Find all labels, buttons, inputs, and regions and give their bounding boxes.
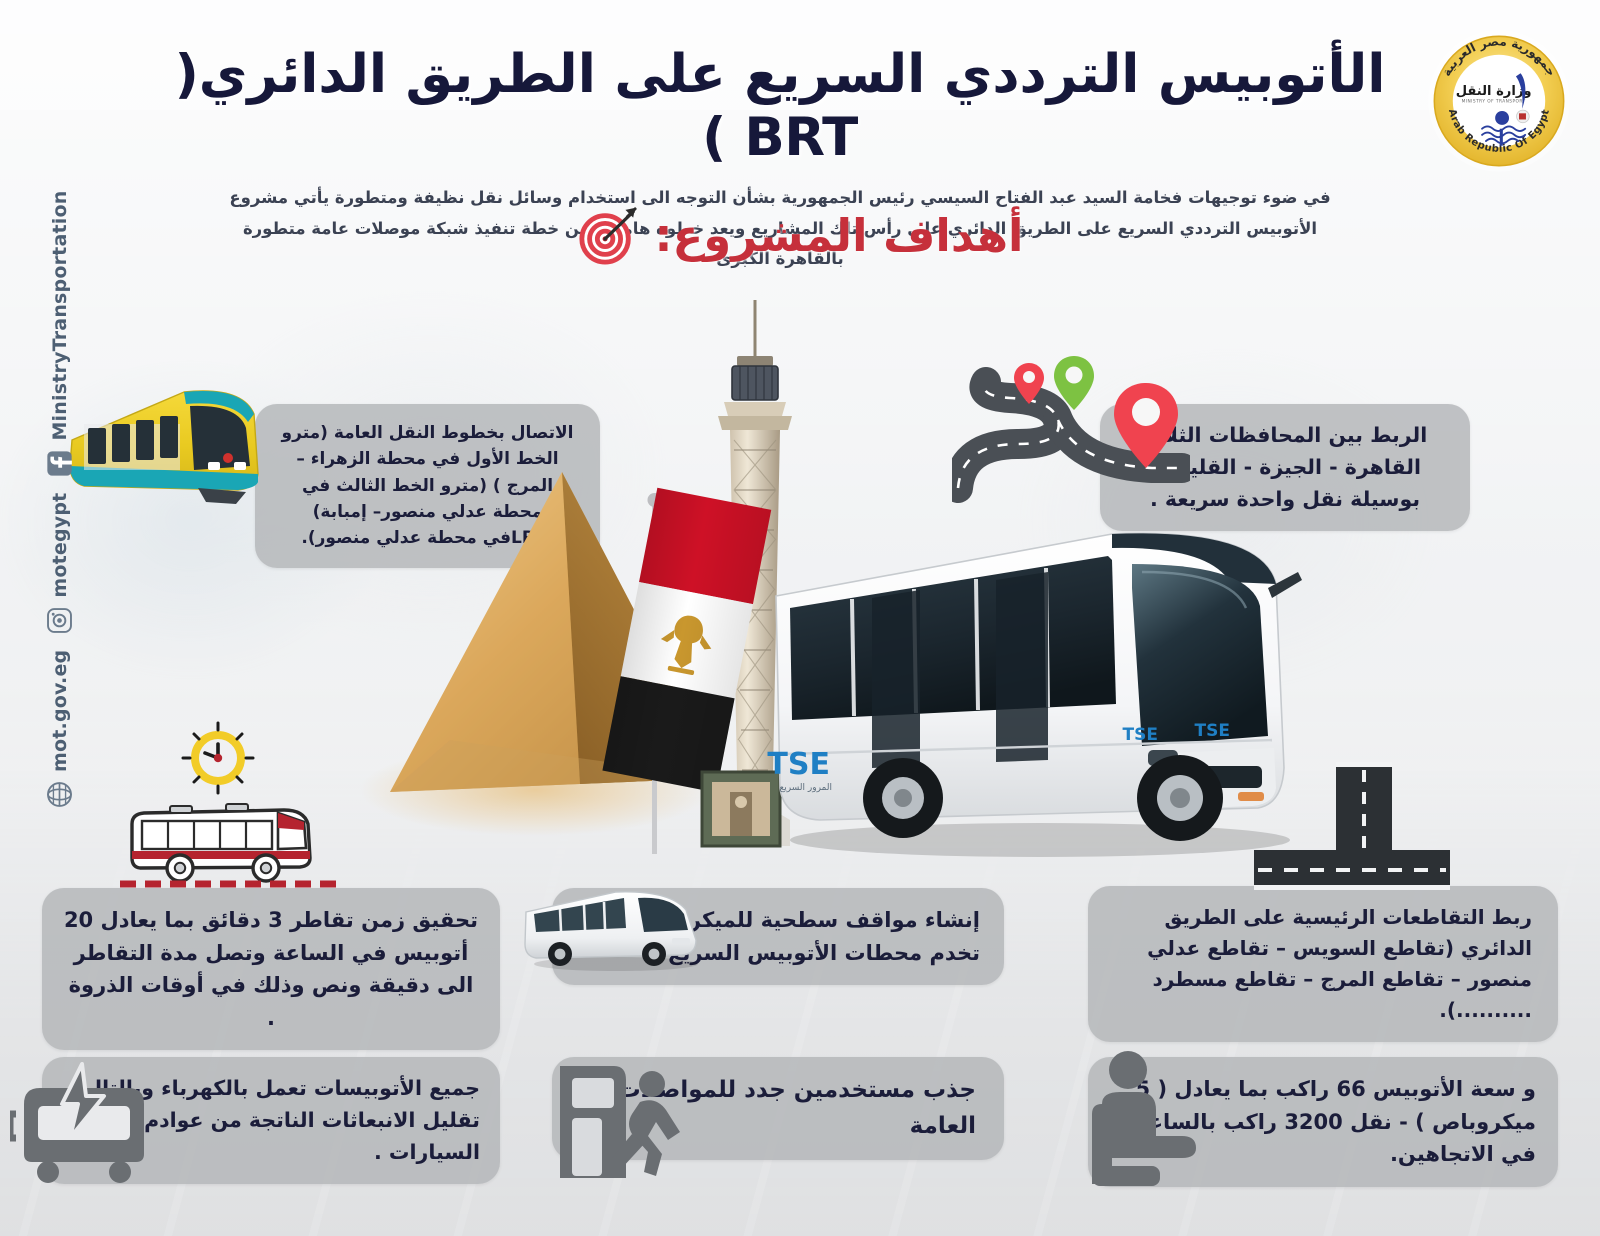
infographic-poster: mot.gov.eg motegypt MinistryTransportati…	[0, 0, 1600, 1236]
ministry-of-transport-seal: جمهورية مصر العربية Arab Republic Of Egy…	[1422, 24, 1576, 178]
social-media-rail: mot.gov.eg motegypt MinistryTransportati…	[0, 300, 58, 820]
social-link-instagram[interactable]: motegypt	[46, 493, 73, 634]
bus-brand-front-left-text: TSE	[1123, 725, 1158, 745]
social-link-facebook[interactable]: MinistryTransportation	[46, 191, 73, 477]
metro-train-icon	[58, 362, 276, 512]
goal-card-ring-road-junctions-text: ربط التقاطعات الرئيسية على الطريق الدائر…	[1147, 905, 1532, 1022]
social-label-facebook: MinistryTransportation	[49, 191, 71, 441]
target-dart-icon	[577, 204, 639, 266]
page-title: الأتوبيس الترددي السريع على الطريق الدائ…	[170, 44, 1390, 169]
goal-card-ring-road-junctions: ربط التقاطعات الرئيسية على الطريق الدائر…	[1088, 886, 1558, 1042]
bus-brand-front-right-text: TSE	[1195, 721, 1230, 741]
clock-bus-icon	[108, 718, 348, 898]
instagram-icon	[46, 607, 73, 634]
svg-text:المرور السريع: المرور السريع	[780, 783, 833, 793]
goals-heading-text: أهداف المشروع:	[655, 209, 1024, 262]
social-label-website: mot.gov.eg	[49, 650, 71, 772]
winding-road-pins-icon	[952, 352, 1190, 504]
seated-passenger-icon	[1078, 1048, 1206, 1188]
electric-bus-icon	[10, 1062, 160, 1186]
goals-heading-row: أهداف المشروع:	[0, 204, 1600, 266]
globe-icon	[46, 781, 73, 808]
coach-bus-line-icon	[132, 804, 310, 881]
svg-text:MINISTRY OF TRANSPORT: MINISTRY OF TRANSPORT	[1462, 99, 1526, 105]
svg-text:وزارة النقل: وزارة النقل	[1456, 84, 1532, 99]
social-label-instagram: motegypt	[49, 493, 71, 598]
goal-card-headway-text: تحقيق زمن تقاطر 3 دقائق بما يعادل 20 أتو…	[64, 908, 478, 1030]
social-link-website[interactable]: mot.gov.eg	[46, 650, 73, 808]
brt-bus-image: TSE المرور السريع TSE TSE	[760, 468, 1305, 863]
bus-brand-side-text: TSE	[767, 747, 830, 782]
facebook-icon	[46, 450, 73, 477]
passenger-boarding-icon	[552, 1058, 692, 1186]
t-junction-road-icon	[1238, 752, 1464, 892]
clock-icon	[183, 723, 253, 793]
microbus-icon	[520, 876, 710, 972]
goal-card-headway: تحقيق زمن تقاطر 3 دقائق بما يعادل 20 أتو…	[42, 888, 500, 1050]
